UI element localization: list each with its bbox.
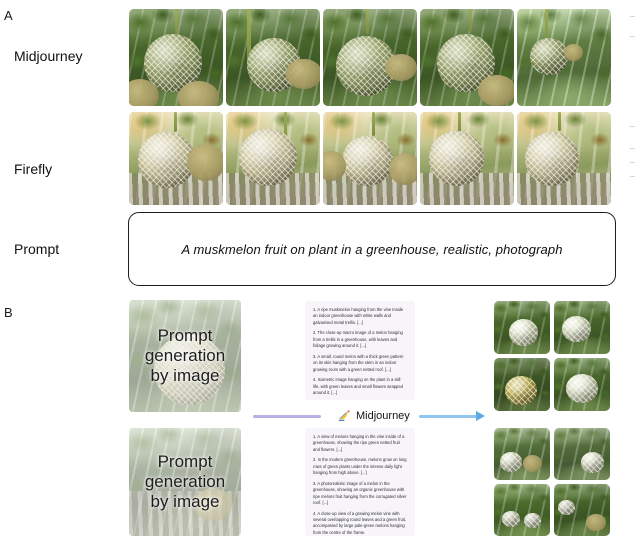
source-image-card-2: Prompt generation by image <box>129 428 241 536</box>
midjourney-image-2 <box>226 9 320 106</box>
overlay-line-1: Prompt <box>158 326 213 346</box>
scan-artifact <box>630 16 635 17</box>
prompt-paragraph: 1. A ripe muskmelon hanging from the vin… <box>313 307 407 326</box>
firefly-image-3 <box>323 112 417 205</box>
figure-root: A Midjourney Firefly Prompt <box>0 0 640 543</box>
scan-artifact <box>630 126 635 127</box>
row-label-prompt: Prompt <box>14 241 59 257</box>
output-image-2-1 <box>494 428 550 480</box>
output-grid-2 <box>494 428 610 536</box>
scan-artifact <box>630 176 635 177</box>
prompt-paragraph: 1. A view of melons hanging in the vine … <box>313 434 407 453</box>
scan-artifact <box>630 162 635 163</box>
arrow-image-to-prompt <box>253 414 321 418</box>
output-image-1-3 <box>494 358 550 411</box>
generated-prompt-block-1: 1. A ripe muskmelon hanging from the vin… <box>305 301 415 400</box>
midjourney-image-3 <box>323 9 417 106</box>
prompt-paragraph: 4. A close-up view of a growing melon vi… <box>313 511 407 536</box>
output-image-2-3 <box>494 484 550 536</box>
source-card-1-overlay: Prompt generation by image <box>129 300 241 412</box>
row-label-midjourney: Midjourney <box>14 48 82 64</box>
generated-prompt-block-2: 1. A view of melons hanging in the vine … <box>305 428 415 536</box>
midjourney-image-1 <box>129 9 223 106</box>
midjourney-image-5 <box>517 9 611 106</box>
overlay-line-1: Prompt <box>158 452 213 472</box>
overlay-line-2: generation <box>145 472 225 492</box>
scan-artifact <box>630 36 635 37</box>
prompt-paragraph: 3. A small, round melon with a thick gre… <box>313 354 407 373</box>
output-image-1-2 <box>554 301 610 354</box>
midjourney-logo-icon <box>338 409 351 422</box>
scan-artifact <box>630 148 635 149</box>
output-image-2-4 <box>554 484 610 536</box>
panel-letter-b: B <box>4 305 13 320</box>
row-label-firefly: Firefly <box>14 161 52 177</box>
output-image-1-4 <box>554 358 610 411</box>
overlay-line-2: generation <box>145 346 225 366</box>
overlay-line-3: by image <box>151 366 220 386</box>
arrow-prompt-to-output <box>419 414 485 418</box>
output-image-1-1 <box>494 301 550 354</box>
prompt-paragraph: 2. The close-up macro image of a melon h… <box>313 330 407 349</box>
prompt-paragraph: 3. A photorealistic image of a melon in … <box>313 481 407 507</box>
source-image-card-1: Prompt generation by image <box>129 300 241 412</box>
prompt-box: A muskmelon fruit on plant in a greenhou… <box>128 212 616 286</box>
prompt-text: A muskmelon fruit on plant in a greenhou… <box>181 242 562 257</box>
firefly-image-5 <box>517 112 611 205</box>
firefly-image-1 <box>129 112 223 205</box>
prompt-paragraph: 2. In the modern greenhouse, melons grow… <box>313 457 407 476</box>
midjourney-label: Midjourney <box>356 410 410 422</box>
firefly-image-2 <box>226 112 320 205</box>
midjourney-image-4 <box>420 9 514 106</box>
output-image-2-2 <box>554 428 610 480</box>
midjourney-brand: Midjourney <box>338 409 410 422</box>
overlay-line-3: by image <box>151 492 220 512</box>
panel-letter-a: A <box>4 8 13 23</box>
firefly-image-4 <box>420 112 514 205</box>
prompt-paragraph: 4. Isometric image hanging on the plant … <box>313 377 407 396</box>
source-card-2-overlay: Prompt generation by image <box>129 428 241 536</box>
output-grid-1 <box>494 301 610 411</box>
